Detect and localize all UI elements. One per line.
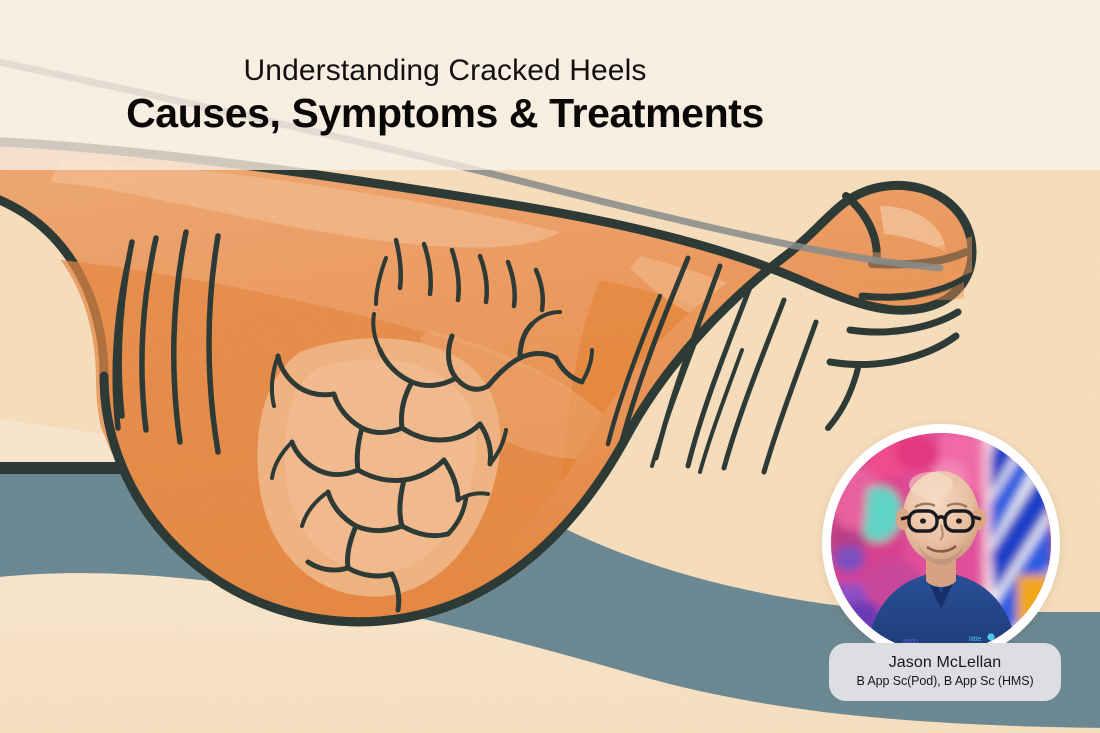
article-hero-banner: Understanding Cracked Heels Causes, Symp…	[0, 0, 1100, 733]
author-name: Jason McLellan	[837, 654, 1053, 672]
author-name-pill: Jason McLellan B App Sc(Pod), B App Sc (…	[829, 643, 1061, 701]
avatar: ason little	[831, 433, 1051, 653]
author-card: ason little Jason McLellan B App Sc(Pod)…	[822, 424, 1068, 696]
avatar-photo: ason little	[831, 433, 1051, 653]
author-credentials: B App Sc(Pod), B App Sc (HMS)	[837, 674, 1053, 689]
svg-text:little: little	[969, 636, 982, 643]
